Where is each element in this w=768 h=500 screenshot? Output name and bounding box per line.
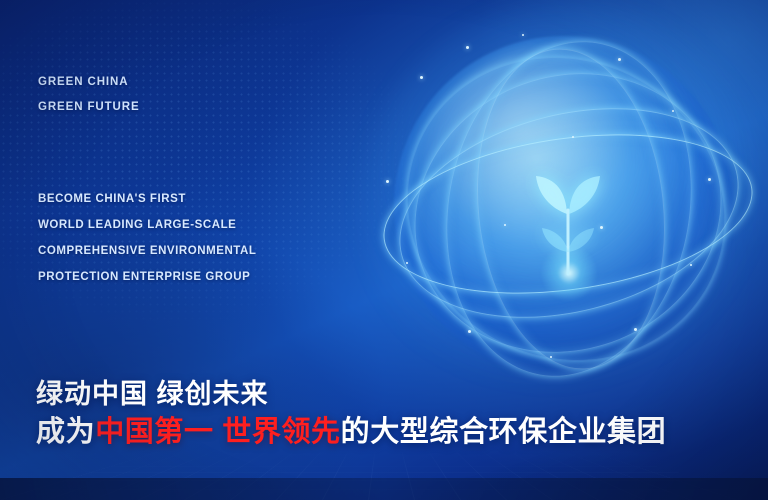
hero-banner: GREEN CHINA GREEN FUTURE BECOME CHINA'S … <box>0 0 768 500</box>
bottom-bar <box>0 478 768 500</box>
vignette-overlay <box>0 0 768 500</box>
